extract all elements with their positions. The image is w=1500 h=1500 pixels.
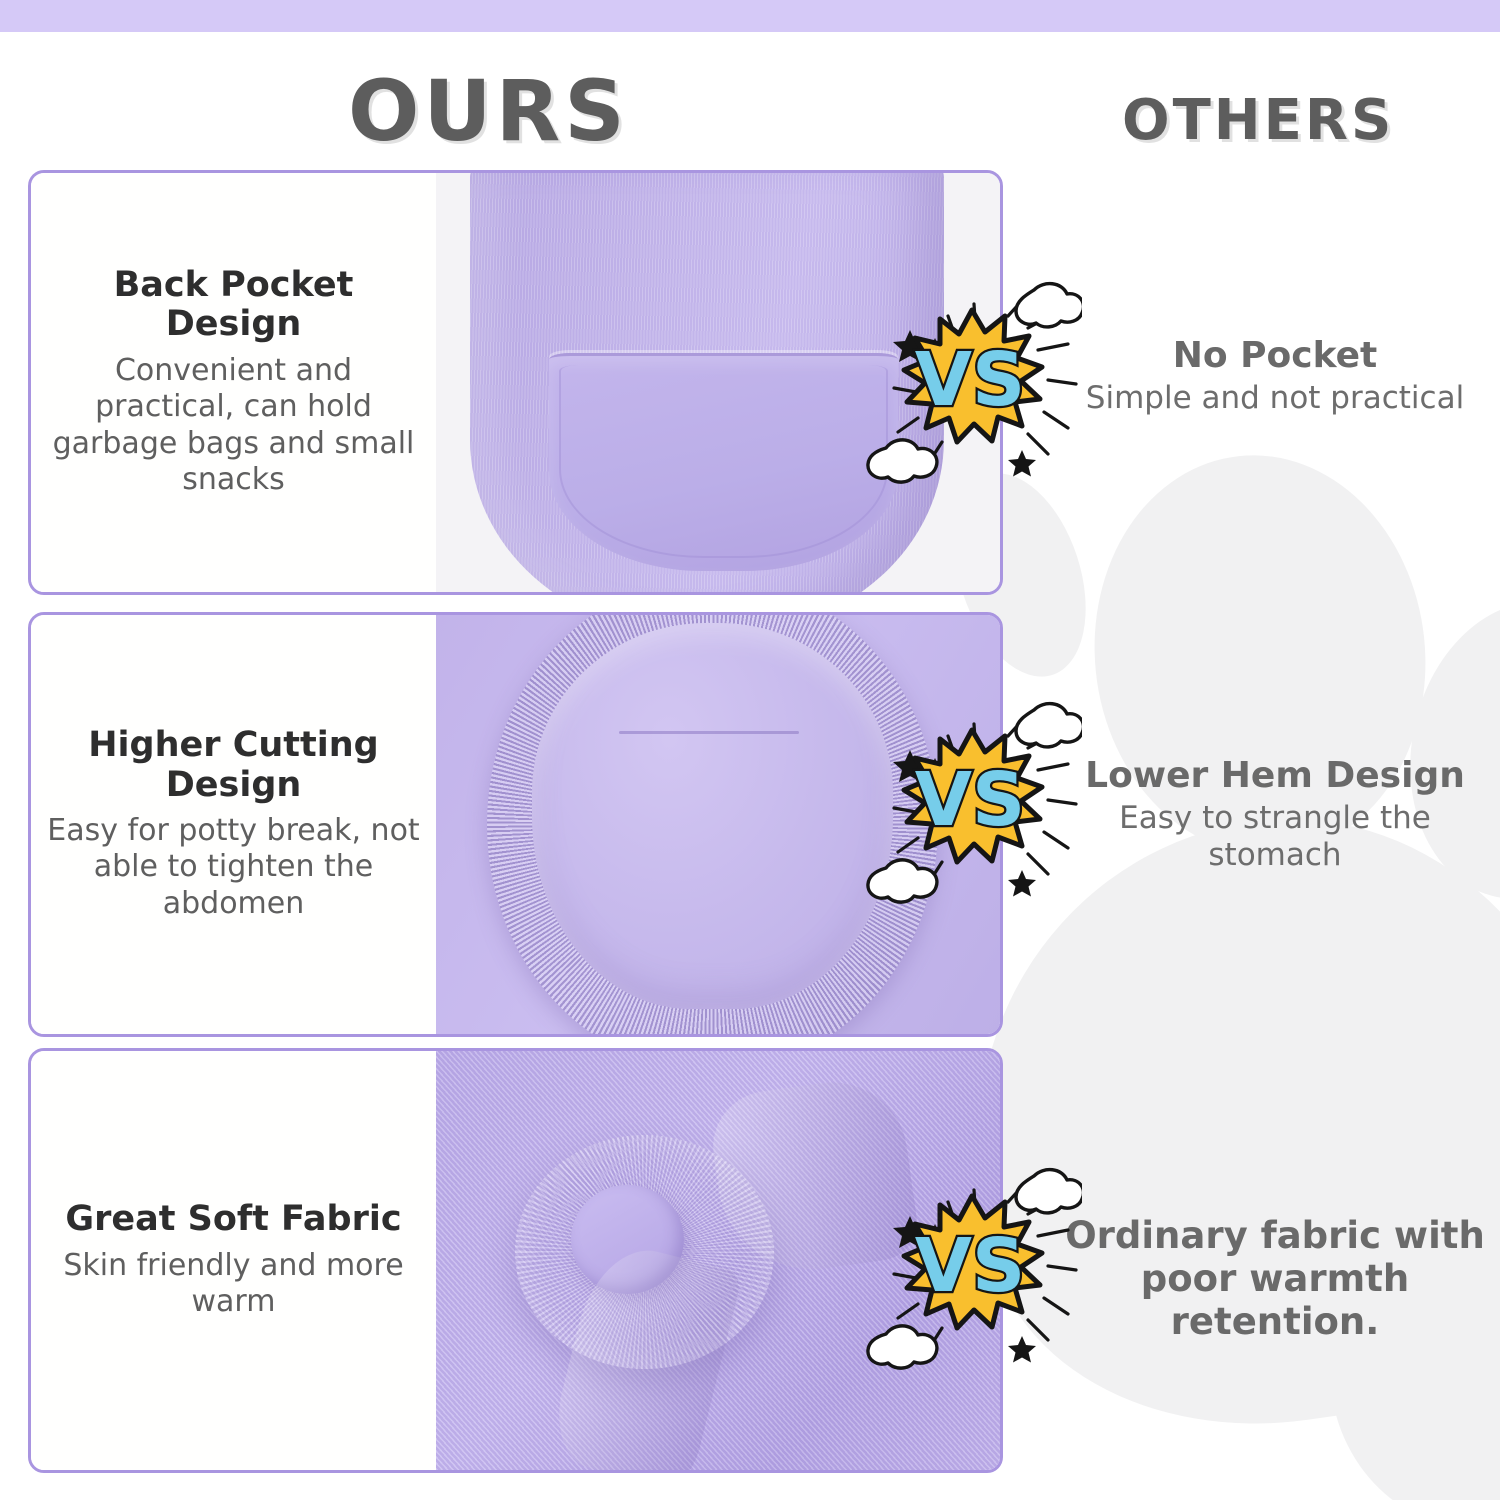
ours-card-1-subtitle: Convenient and practical, can hold garba… xyxy=(45,353,422,499)
cloud-puff-icon xyxy=(1016,1170,1082,1213)
inner-fleece-lining xyxy=(532,623,893,1008)
cloud-puff-icon xyxy=(868,440,937,482)
vs-badge-2: VS xyxy=(862,692,1082,912)
others-block-1-subtitle: Simple and not practical xyxy=(1060,380,1490,417)
vs-label: VS xyxy=(915,757,1026,843)
others-block-3: Ordinary fabric with poor warmth retenti… xyxy=(1060,1215,1490,1348)
ours-card-1-text: Back Pocket Design Convenient and practi… xyxy=(31,173,436,592)
fleece-seam xyxy=(619,731,799,734)
others-block-2-title: Lower Hem Design xyxy=(1060,755,1490,796)
comparison-infographic: OURS OTHERS Back Pocket Design Convenien… xyxy=(0,0,1500,1500)
ours-card-2-text: Higher Cutting Design Easy for potty bre… xyxy=(31,615,436,1034)
cloud-puff-icon xyxy=(868,860,937,902)
ours-card-3-text: Great Soft Fabric Skin friendly and more… xyxy=(31,1051,436,1470)
others-block-3-title: Ordinary fabric with poor warmth retenti… xyxy=(1060,1215,1490,1344)
vs-label: VS xyxy=(915,337,1026,423)
vs-badge-1: VS xyxy=(862,272,1082,492)
others-block-1-title: No Pocket xyxy=(1060,335,1490,376)
vs-label: VS xyxy=(915,1223,1026,1309)
sparkle-star-icon xyxy=(1008,1336,1036,1363)
headings-row: OURS OTHERS xyxy=(0,40,1500,155)
others-block-1: No Pocket Simple and not practical xyxy=(1060,335,1490,417)
ours-card-2-title: Higher Cutting Design xyxy=(45,726,422,804)
ours-card-1[interactable]: Back Pocket Design Convenient and practi… xyxy=(28,170,1003,595)
ours-heading: OURS xyxy=(348,62,629,160)
others-heading: OTHERS xyxy=(1122,88,1394,153)
vs-badge-3: VS xyxy=(862,1158,1082,1378)
cloud-puff-icon xyxy=(1016,704,1082,747)
pocket-shape xyxy=(549,353,899,571)
ours-card-2[interactable]: Higher Cutting Design Easy for potty bre… xyxy=(28,612,1003,1037)
cloud-puff-icon xyxy=(868,1326,937,1368)
ours-card-3-subtitle: Skin friendly and more warm xyxy=(45,1248,422,1321)
sparkle-star-icon xyxy=(1008,450,1036,477)
top-purple-bar xyxy=(0,0,1500,32)
others-block-2: Lower Hem Design Easy to strangle the st… xyxy=(1060,755,1490,874)
ours-card-3-title: Great Soft Fabric xyxy=(65,1200,401,1239)
ours-card-2-subtitle: Easy for potty break, not able to tighte… xyxy=(45,813,422,923)
sparkle-star-icon xyxy=(1008,870,1036,897)
ours-card-1-title: Back Pocket Design xyxy=(45,266,422,344)
others-block-2-subtitle: Easy to strangle the stomach xyxy=(1060,800,1490,874)
ours-card-3[interactable]: Great Soft Fabric Skin friendly and more… xyxy=(28,1048,1003,1473)
cloud-puff-icon xyxy=(1016,284,1082,327)
